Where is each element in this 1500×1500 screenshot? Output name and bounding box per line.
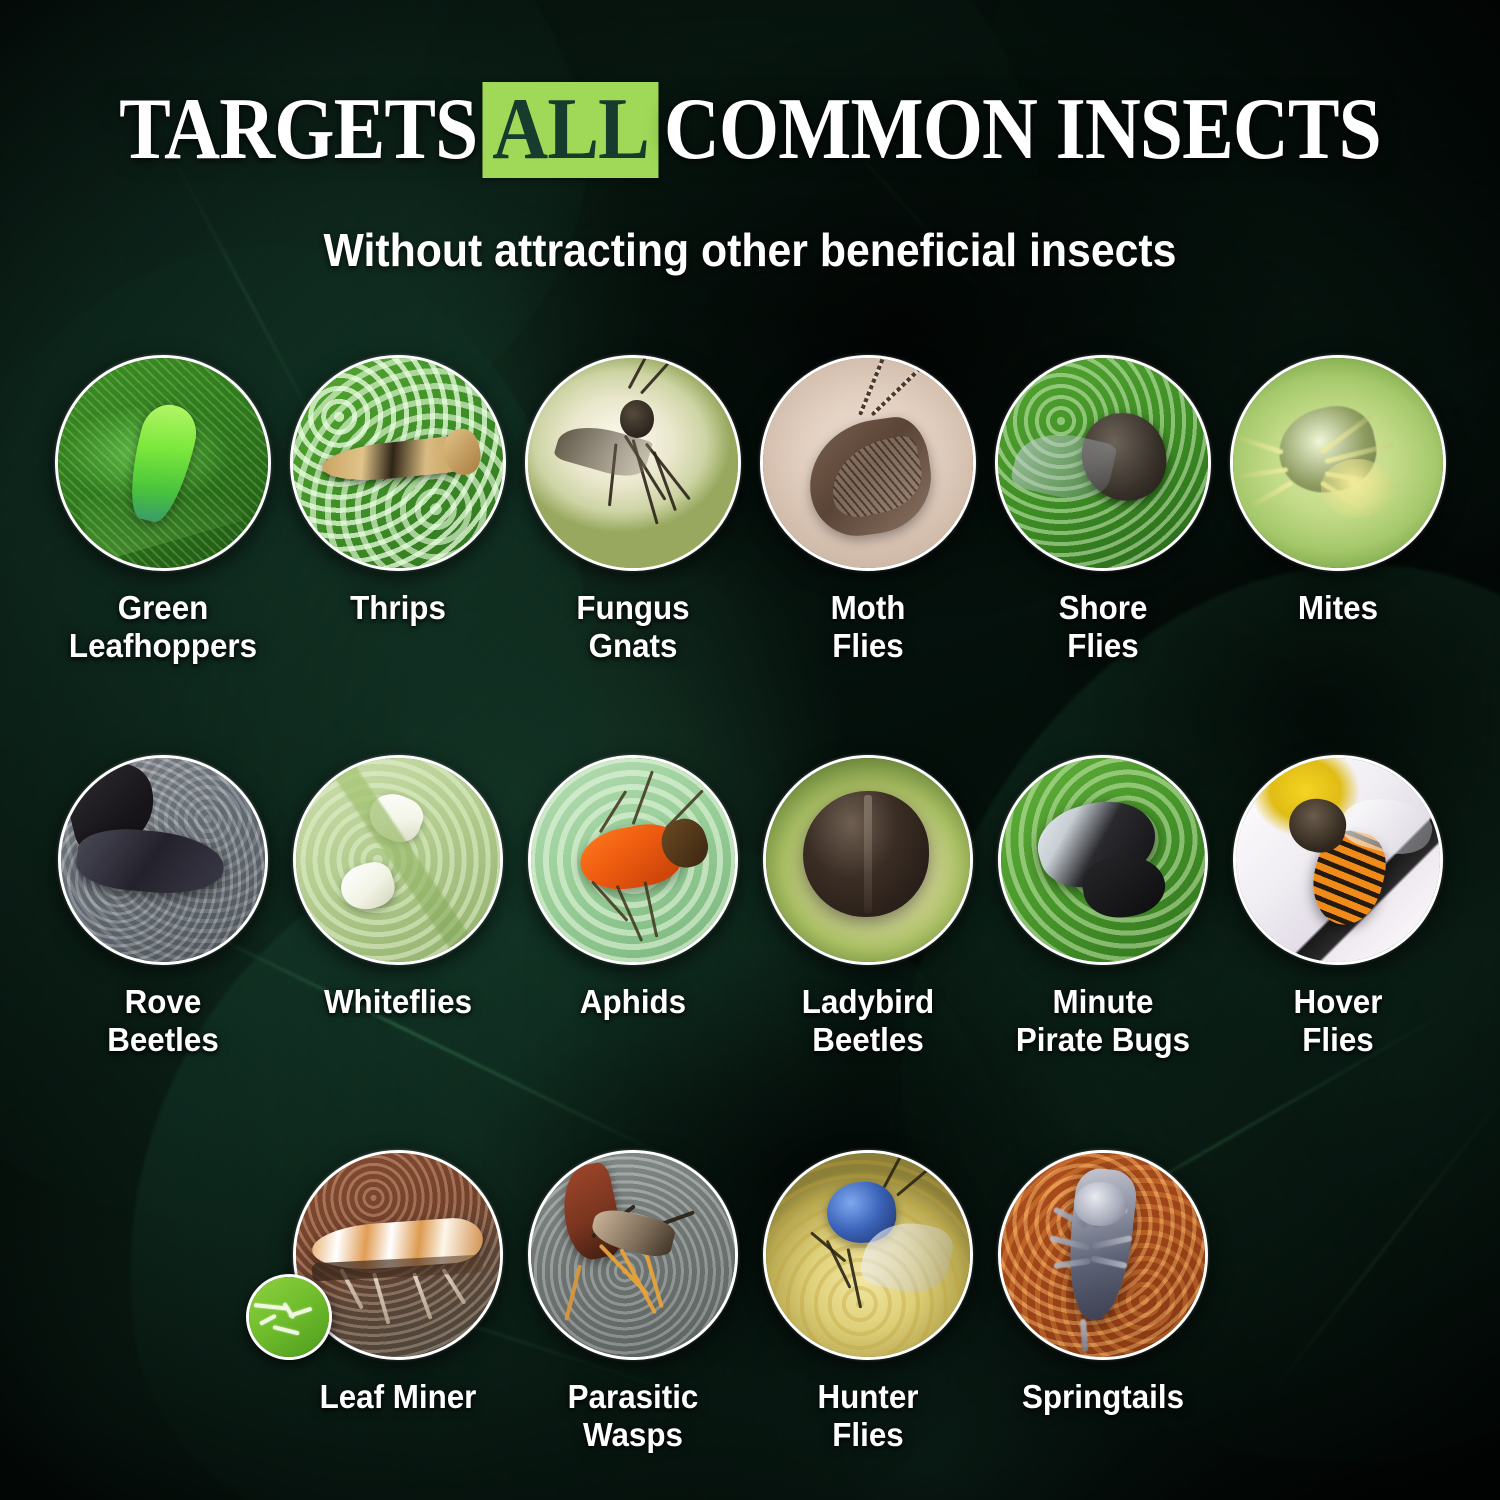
insect-label: Minute Pirate Bugs xyxy=(980,983,1227,1059)
insect-photo-bubble xyxy=(763,755,973,965)
insect-photo-bubble xyxy=(998,1150,1208,1360)
insect-photo-bubble xyxy=(528,755,738,965)
insect-card-whiteflies[interactable]: Whiteflies xyxy=(268,755,528,1021)
insect-label: Parasitic Wasps xyxy=(510,1378,757,1454)
insect-card-hunter-flies[interactable]: Hunter Flies xyxy=(738,1150,998,1454)
insect-photo-bubble xyxy=(528,1150,738,1360)
page-title: TARGETSALLCOMMON INSECTS xyxy=(90,82,1410,178)
insect-card-shore-flies[interactable]: Shore Flies xyxy=(973,355,1233,665)
ladybird-beetle-photo xyxy=(766,758,970,962)
insect-label: Hunter Flies xyxy=(745,1378,992,1454)
insect-card-minute-pirate-bugs[interactable]: Minute Pirate Bugs xyxy=(973,755,1233,1059)
insect-card-thrips[interactable]: Thrips xyxy=(268,355,528,627)
insect-card-leaf-miner[interactable]: Leaf Miner xyxy=(268,1150,528,1416)
rove-beetle-photo xyxy=(61,758,265,962)
mites-photo xyxy=(1233,358,1443,568)
insect-card-hover-flies[interactable]: Hover Flies xyxy=(1208,755,1468,1059)
insect-label: Springtails xyxy=(980,1378,1227,1416)
aphid-photo xyxy=(531,758,735,962)
insect-card-ladybird-beetles[interactable]: Ladybird Beetles xyxy=(738,755,998,1059)
shore-fly-photo xyxy=(998,358,1208,568)
insect-label: Rove Beetles xyxy=(40,983,287,1059)
insect-photo-bubble xyxy=(1233,755,1443,965)
insect-label: Whiteflies xyxy=(275,983,522,1021)
leaf-mine-inset-bubble xyxy=(246,1274,332,1360)
insect-card-parasitic-wasps[interactable]: Parasitic Wasps xyxy=(503,1150,763,1454)
promo-banner: TARGETSALLCOMMON INSECTS Without attract… xyxy=(0,0,1500,1500)
insect-photo-bubble xyxy=(995,355,1211,571)
parasitic-wasp-photo xyxy=(531,1153,735,1357)
leaf-mine-trail-photo xyxy=(249,1277,329,1357)
insect-label: Aphids xyxy=(510,983,757,1021)
insect-card-rove-beetles[interactable]: Rove Beetles xyxy=(33,755,293,1059)
springtail-photo xyxy=(1001,1153,1205,1357)
insect-card-fungus-gnats[interactable]: Fungus Gnats xyxy=(503,355,763,665)
insect-card-moth-flies[interactable]: Moth Flies xyxy=(738,355,998,665)
insect-label: Shore Flies xyxy=(980,589,1227,665)
insect-label: Thrips xyxy=(275,589,522,627)
green-leafhopper-photo xyxy=(58,358,268,568)
insect-label: Moth Flies xyxy=(745,589,992,665)
thrips-photo xyxy=(293,358,503,568)
title-highlight-all: ALL xyxy=(483,82,659,178)
insect-photo-bubble xyxy=(293,755,503,965)
insect-photo-bubble xyxy=(58,755,268,965)
insect-photo-bubble xyxy=(290,355,506,571)
insect-photo-bubble xyxy=(55,355,271,571)
insect-label: Leaf Miner xyxy=(275,1378,522,1416)
page-subtitle: Without attracting other beneficial inse… xyxy=(53,222,1448,278)
insect-label: Ladybird Beetles xyxy=(745,983,992,1059)
minute-pirate-bug-photo xyxy=(1001,758,1205,962)
whitefly-photo xyxy=(296,758,500,962)
hunter-fly-photo xyxy=(766,1153,970,1357)
title-part-1: TARGETS xyxy=(119,81,477,178)
insect-label: Green Leafhoppers xyxy=(40,589,287,665)
moth-fly-photo xyxy=(763,358,973,568)
insect-card-springtails[interactable]: Springtails xyxy=(973,1150,1233,1416)
insect-card-aphids[interactable]: Aphids xyxy=(503,755,763,1021)
insect-photo-bubble xyxy=(525,355,741,571)
title-part-2: COMMON INSECTS xyxy=(664,81,1381,178)
insect-photo-bubble xyxy=(760,355,976,571)
insect-photo-bubble xyxy=(998,755,1208,965)
insect-card-green-leafhoppers[interactable]: Green Leafhoppers xyxy=(33,355,293,665)
insect-label: Mites xyxy=(1215,589,1462,627)
insect-photo-bubble xyxy=(1230,355,1446,571)
fungus-gnat-photo xyxy=(528,358,738,568)
insect-card-mites[interactable]: Mites xyxy=(1208,355,1468,627)
insect-label: Fungus Gnats xyxy=(510,589,757,665)
hover-fly-photo xyxy=(1236,758,1440,962)
insect-label: Hover Flies xyxy=(1215,983,1462,1059)
insect-photo-bubble xyxy=(763,1150,973,1360)
